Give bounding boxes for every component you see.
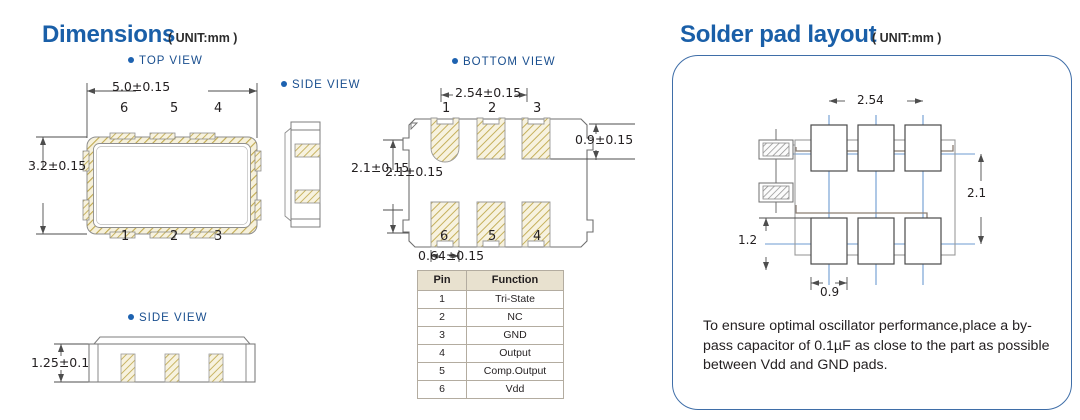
- bottom-view-pin-5: 5: [488, 229, 496, 244]
- side-view-right-drawing: [275, 100, 345, 235]
- bottom-view-pin-3: 3: [533, 101, 541, 116]
- cell-function: Tri-State: [467, 291, 564, 309]
- solder-vertical-span-dimension: 2.1: [967, 186, 986, 200]
- bottom-view-pin-2: 2: [488, 101, 496, 116]
- side-view-right-label: SIDE VIEW: [281, 79, 360, 91]
- cell-function: NC: [467, 309, 564, 327]
- cell-pin: 4: [418, 345, 467, 363]
- top-view-pin-6: 6: [120, 101, 128, 116]
- top-view-pin-2: 2: [170, 229, 178, 244]
- bottom-view-pad-height-dimension: 0.9±0.15: [575, 132, 633, 147]
- bottom-view-pad-width-dimension: 0.64±0.15: [418, 248, 484, 263]
- cell-pin: 2: [418, 309, 467, 327]
- dimensions-unit-label: ( UNIT:mm ): [168, 31, 237, 45]
- top-view-pin-1: 1: [121, 229, 129, 244]
- bullet-icon: [128, 314, 134, 320]
- side-view-low-label: SIDE VIEW: [128, 312, 207, 324]
- cell-pin: 3: [418, 327, 467, 345]
- solder-section-title: Solder pad layout: [680, 21, 876, 49]
- cell-pin: 5: [418, 363, 467, 381]
- cell-function: Comp.Output: [467, 363, 564, 381]
- table-row: 1 Tri-State: [418, 291, 564, 309]
- table-row: 6 Vdd: [418, 381, 564, 399]
- top-view-width-dimension: 5.0±0.15: [112, 79, 170, 94]
- cell-pin: 1: [418, 291, 467, 309]
- solder-pitch-dimension: 2.54: [857, 93, 884, 107]
- table-row: 3 GND: [418, 327, 564, 345]
- column-header-function: Function: [467, 271, 564, 291]
- cell-function: Output: [467, 345, 564, 363]
- column-header-pin: Pin: [418, 271, 467, 291]
- top-view-label-text: TOP VIEW: [139, 55, 203, 67]
- side-view-low-label-text: SIDE VIEW: [139, 312, 207, 324]
- side-view-low-drawing: [28, 332, 283, 412]
- pin-function-table: Pin Function 1 Tri-State 2 NC 3 GND 4 Ou…: [417, 270, 564, 399]
- top-view-pin-4: 4: [214, 101, 222, 116]
- side-view-low-thickness-dimension: 1.25±0.1: [31, 355, 89, 370]
- table-header-row: Pin Function: [418, 271, 564, 291]
- bullet-icon: [281, 81, 287, 87]
- dimensions-section-title: Dimensions: [42, 21, 175, 49]
- bottom-view-label: BOTTOM VIEW: [452, 56, 556, 68]
- bottom-view-pin-6: 6: [440, 229, 448, 244]
- bottom-view-pin-4: 4: [533, 229, 541, 244]
- top-view-label: TOP VIEW: [128, 55, 203, 67]
- top-view-height-dimension: 3.2±0.15: [28, 158, 86, 173]
- solder-pad-width-dimension: 0.9: [820, 285, 839, 299]
- bottom-view-pitch-dimension: 2.54±0.15: [455, 85, 521, 100]
- top-view-pin-3: 3: [214, 229, 222, 244]
- bypass-capacitor-note: To ensure optimal oscillator performance…: [703, 317, 1053, 376]
- table-row: 2 NC: [418, 309, 564, 327]
- side-view-right-label-text: SIDE VIEW: [292, 79, 360, 91]
- solder-pad-layout-drawing: [735, 85, 1005, 300]
- bottom-view-label-text: BOTTOM VIEW: [463, 56, 556, 68]
- top-view-pin-5: 5: [170, 101, 178, 116]
- cell-function: Vdd: [467, 381, 564, 399]
- solder-pad-vertical-dimension: 1.2: [738, 233, 757, 247]
- bottom-view-pin-1: 1: [442, 101, 450, 116]
- bullet-icon: [452, 58, 458, 64]
- table-row: 4 Output: [418, 345, 564, 363]
- cell-pin: 6: [418, 381, 467, 399]
- table-row: 5 Comp.Output: [418, 363, 564, 381]
- cell-function: GND: [467, 327, 564, 345]
- datasheet-drawing-page: Dimensions ( UNIT:mm ) TOP VIEW: [0, 0, 1080, 420]
- bullet-icon: [128, 57, 134, 63]
- bottom-view-height-dimension: 2.1±0.15: [385, 164, 443, 179]
- solder-unit-label: ( UNIT:mm ): [872, 31, 941, 45]
